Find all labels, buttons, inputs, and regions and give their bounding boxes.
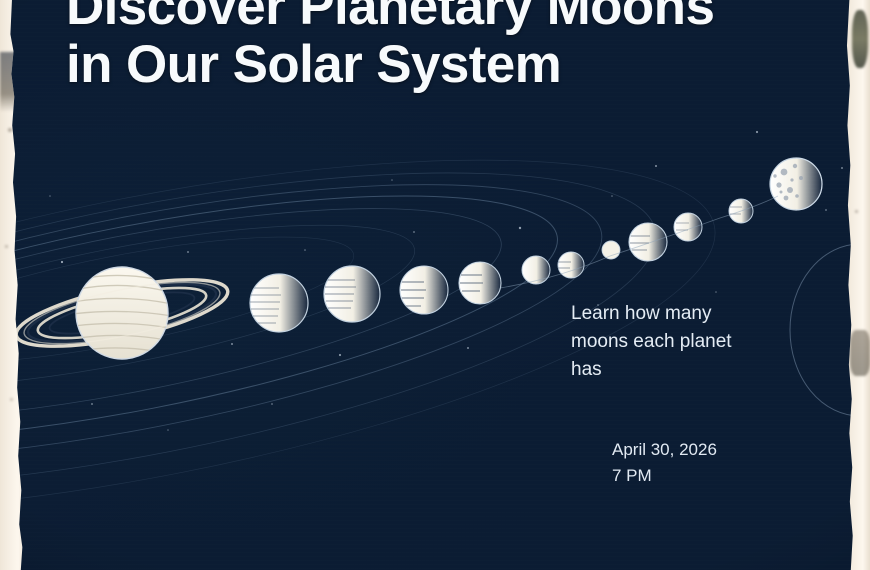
paper-smudge-right-top bbox=[852, 10, 868, 68]
paper-speck-right-1 bbox=[855, 210, 858, 213]
moon-cratered bbox=[770, 158, 822, 210]
subtitle-text: Learn how many moons each planet has bbox=[571, 300, 786, 384]
planet-8 bbox=[602, 241, 620, 259]
planet-10 bbox=[674, 213, 702, 241]
planet-9 bbox=[629, 223, 667, 261]
paper-speck-left-2 bbox=[5, 245, 8, 248]
planet-2 bbox=[250, 274, 308, 332]
poster-canvas: Discover Planetary Moons in Our Solar Sy… bbox=[0, 0, 870, 570]
planet-6 bbox=[522, 256, 550, 284]
event-details: April 30, 2026 7 PM bbox=[612, 437, 812, 489]
planet-saturn bbox=[11, 266, 233, 360]
paper-speck-left-3 bbox=[10, 398, 13, 401]
event-time: 7 PM bbox=[612, 463, 812, 489]
page-title: Discover Planetary Moons in Our Solar Sy… bbox=[66, 0, 806, 94]
planet-5 bbox=[459, 262, 501, 304]
paper-smudge-left-top bbox=[0, 52, 18, 112]
planet-3 bbox=[324, 266, 380, 322]
event-date: April 30, 2026 bbox=[612, 437, 812, 463]
right-paper-strip bbox=[846, 0, 870, 570]
paper-speck-left-1 bbox=[8, 128, 12, 132]
paper-smudge-right-mid bbox=[850, 330, 870, 376]
left-paper-strip bbox=[0, 0, 26, 570]
planet-4 bbox=[400, 266, 448, 314]
left-paper-edge bbox=[0, 0, 40, 570]
right-paper-edge bbox=[830, 0, 870, 570]
